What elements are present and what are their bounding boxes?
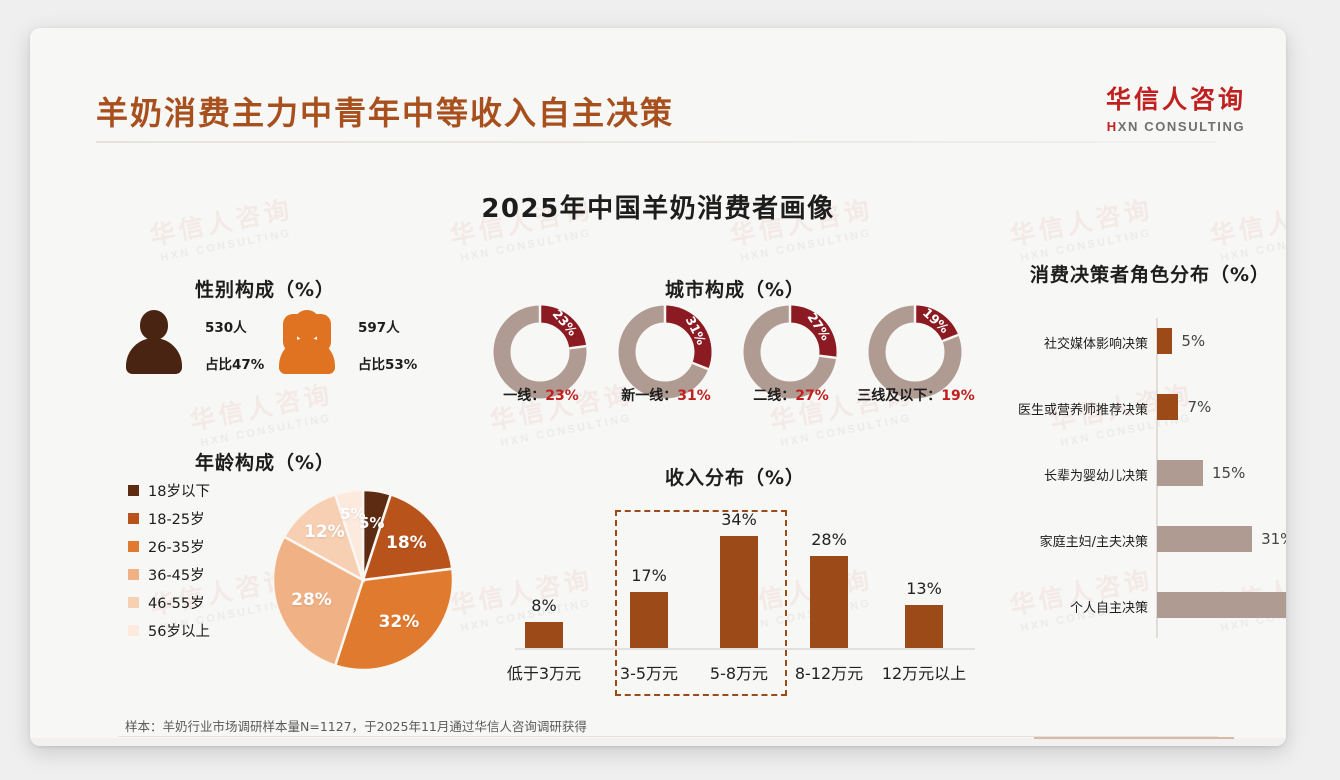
footer-bar — [30, 738, 1286, 746]
pie-slice-label: 5% — [333, 505, 373, 523]
page-title: 羊奶消费主力中青年中等收入自主决策 — [96, 88, 674, 134]
female-count: 597人 — [358, 316, 400, 336]
income-bar-value: 13% — [884, 579, 964, 598]
role-label: 医生或营养师推荐决策 — [926, 399, 1148, 418]
legend-item: 18岁以下 — [128, 476, 210, 504]
city-value: 27% — [795, 388, 829, 404]
male-avatar — [122, 310, 186, 374]
role-bar — [1157, 394, 1178, 420]
legend-swatch-icon — [128, 541, 139, 552]
role-value: 15% — [1212, 464, 1245, 482]
logo-english-initial: H — [1107, 119, 1118, 134]
watermark: 华信人咨询HXN CONSULTING — [187, 375, 339, 451]
brand-logo: 华信人咨询 HXN CONSULTING — [1106, 80, 1246, 134]
role-bar — [1157, 526, 1252, 552]
pie-slice-label: 12% — [304, 522, 344, 542]
income-bar — [525, 622, 563, 648]
legend-label: 56岁以上 — [148, 620, 210, 641]
legend-item: 18-25岁 — [128, 504, 210, 532]
logo-english: HXN CONSULTING — [1106, 119, 1246, 134]
income-bar — [720, 536, 758, 648]
footer-accent-rule — [1034, 737, 1234, 739]
income-bar-value: 34% — [699, 510, 779, 529]
income-bar-category: 5-8万元 — [689, 660, 789, 684]
income-bar-value: 17% — [609, 566, 689, 585]
city-donut-caption: 二线：27% — [727, 385, 855, 405]
city-section-title: 城市构成（%） — [500, 275, 970, 302]
male-count: 530人 — [205, 316, 247, 336]
city-name: 新一线： — [621, 388, 677, 404]
city-donut-caption: 新一线：31% — [602, 385, 730, 405]
legend-swatch-icon — [128, 569, 139, 580]
city-donut-caption: 一线：23% — [477, 385, 605, 405]
role-label: 社交媒体影响决策 — [926, 333, 1148, 352]
age-section-title: 年龄构成（%） — [100, 448, 430, 475]
income-bar-category: 3-5万元 — [599, 660, 699, 684]
role-label: 个人自主决策 — [926, 597, 1148, 616]
city-name: 二线： — [753, 388, 795, 404]
legend-item: 56岁以上 — [128, 616, 210, 644]
legend-item: 26-35岁 — [128, 532, 210, 560]
role-label: 长辈为婴幼儿决策 — [926, 465, 1148, 484]
role-bar — [1157, 592, 1286, 618]
city-value: 23% — [545, 388, 579, 404]
female-avatar — [275, 310, 339, 374]
legend-swatch-icon — [128, 485, 139, 496]
income-bar-category: 12万元以上 — [874, 660, 974, 684]
age-pie-chart: 5%18%32%28%12%5% — [273, 490, 453, 670]
pie-slice-label: 32% — [379, 612, 419, 632]
legend-label: 36-45岁 — [148, 564, 205, 585]
legend-label: 26-35岁 — [148, 536, 205, 557]
legend-item: 46-55岁 — [128, 588, 210, 616]
sample-note: 样本：羊奶行业市场调研样本量N=1127，于2025年11月通过华信人咨询调研获… — [125, 716, 587, 735]
male-share: 占比47% — [205, 353, 264, 373]
legend-swatch-icon — [128, 625, 139, 636]
income-bar-category: 8-12万元 — [779, 660, 879, 684]
legend-label: 18-25岁 — [148, 508, 205, 529]
female-head-icon — [293, 310, 321, 340]
logo-chinese: 华信人咨询 — [1106, 80, 1246, 116]
male-body-icon — [126, 338, 182, 374]
roles-section-title: 消费决策者角色分布（%） — [990, 260, 1286, 287]
role-value: 5% — [1181, 332, 1205, 350]
role-label: 家庭主妇/主夫决策 — [926, 531, 1148, 550]
legend-label: 46-55岁 — [148, 592, 205, 613]
city-value: 31% — [677, 388, 711, 404]
logo-english-rest: XN CONSULTING — [1118, 119, 1245, 134]
income-section-title: 收入分布（%） — [500, 463, 970, 490]
income-bar-value: 8% — [504, 596, 584, 615]
gender-section-title: 性别构成（%） — [100, 275, 430, 302]
role-value: 31% — [1261, 530, 1286, 548]
income-bar — [630, 592, 668, 648]
legend-swatch-icon — [128, 513, 139, 524]
female-share: 占比53% — [358, 353, 417, 373]
income-bar — [810, 556, 848, 648]
income-bar-category: 低于3万元 — [494, 660, 594, 684]
legend-item: 36-45岁 — [128, 560, 210, 588]
legend-label: 18岁以下 — [148, 480, 210, 501]
income-bar-value: 28% — [789, 530, 869, 549]
city-name: 一线： — [503, 388, 545, 404]
pie-slice-label: 18% — [386, 533, 426, 553]
age-pie-legend: 18岁以下18-25岁26-35岁36-45岁46-55岁56岁以上 — [128, 476, 210, 644]
role-bar — [1157, 328, 1172, 354]
header-divider — [96, 141, 1216, 143]
pie-slice-label: 28% — [291, 590, 331, 610]
legend-swatch-icon — [128, 597, 139, 608]
infographic-canvas: 华信人咨询HXN CONSULTING华信人咨询HXN CONSULTING华信… — [30, 28, 1286, 746]
male-head-icon — [140, 310, 168, 340]
page-subtitle: 2025年中国羊奶消费者画像 — [30, 188, 1286, 225]
role-value: 7% — [1187, 398, 1211, 416]
role-bar — [1157, 460, 1203, 486]
